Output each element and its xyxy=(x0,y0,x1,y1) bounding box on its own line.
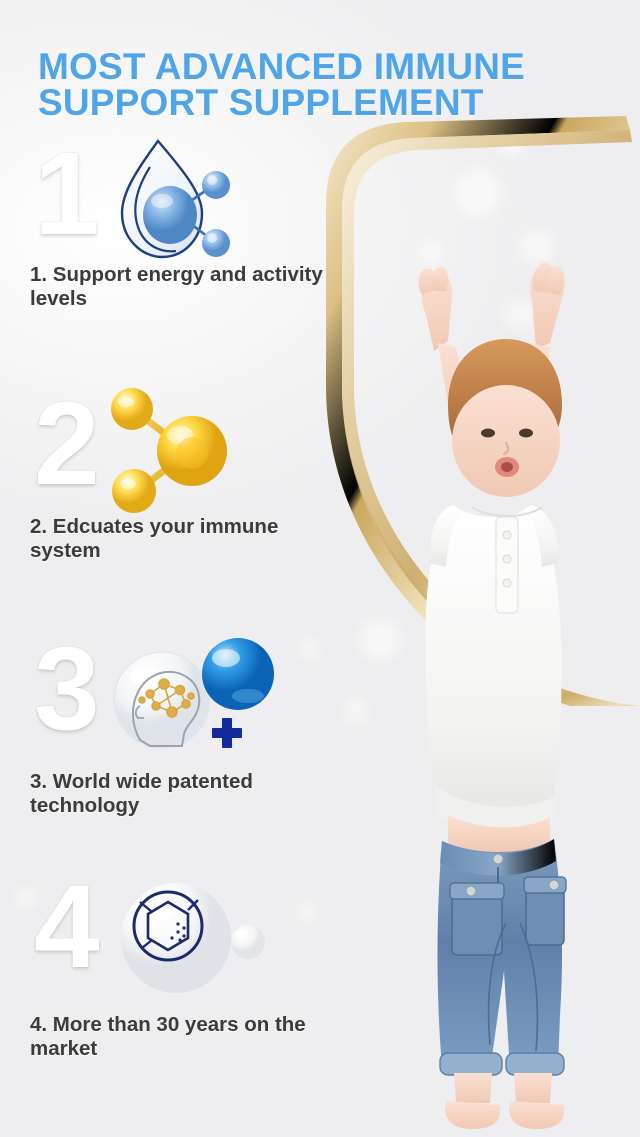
gold-shield-outline xyxy=(296,86,640,706)
bokeh-dot xyxy=(455,170,501,216)
bokeh-dot xyxy=(300,640,318,658)
bokeh-dot xyxy=(345,700,367,722)
feature-number-2: 2 xyxy=(34,385,100,503)
feature-text-1: 1. Support energy and activity levels xyxy=(30,263,330,311)
toddler-photo xyxy=(330,255,640,1137)
bokeh-dot xyxy=(300,905,314,919)
gold-molecule-icon xyxy=(96,377,266,527)
page-title: MOST ADVANCED IMMUNE SUPPORT SUPPLEMENT xyxy=(38,49,608,121)
feature-number-4: 4 xyxy=(34,868,100,986)
headline-line-2: SUPPORT SUPPLEMENT xyxy=(38,85,608,121)
bokeh-dot xyxy=(520,230,554,264)
feature-text-2: 2. Edcuates your immune system xyxy=(30,515,330,563)
headline-line-1: MOST ADVANCED IMMUNE xyxy=(38,46,525,87)
promo-page: MOST ADVANCED IMMUNE SUPPORT SUPPLEMENT xyxy=(0,0,640,1137)
water-droplet-molecule-icon xyxy=(96,127,266,277)
feature-number-1: 1 xyxy=(34,135,100,253)
feature-number-3: 3 xyxy=(34,630,100,748)
pearl-hexagon-molecule-icon xyxy=(96,860,286,1010)
feature-text-3: 3. World wide patented technology xyxy=(30,770,330,818)
feature-text-4: 4. More than 30 years on the market xyxy=(30,1013,330,1061)
bokeh-dot xyxy=(498,128,524,154)
bokeh-dot xyxy=(360,620,400,660)
bokeh-dot xyxy=(505,300,535,330)
brain-network-sphere-plus-icon xyxy=(96,622,286,772)
plus-sign xyxy=(212,718,242,748)
bokeh-dot xyxy=(18,890,34,906)
bokeh-dot xyxy=(420,240,442,262)
